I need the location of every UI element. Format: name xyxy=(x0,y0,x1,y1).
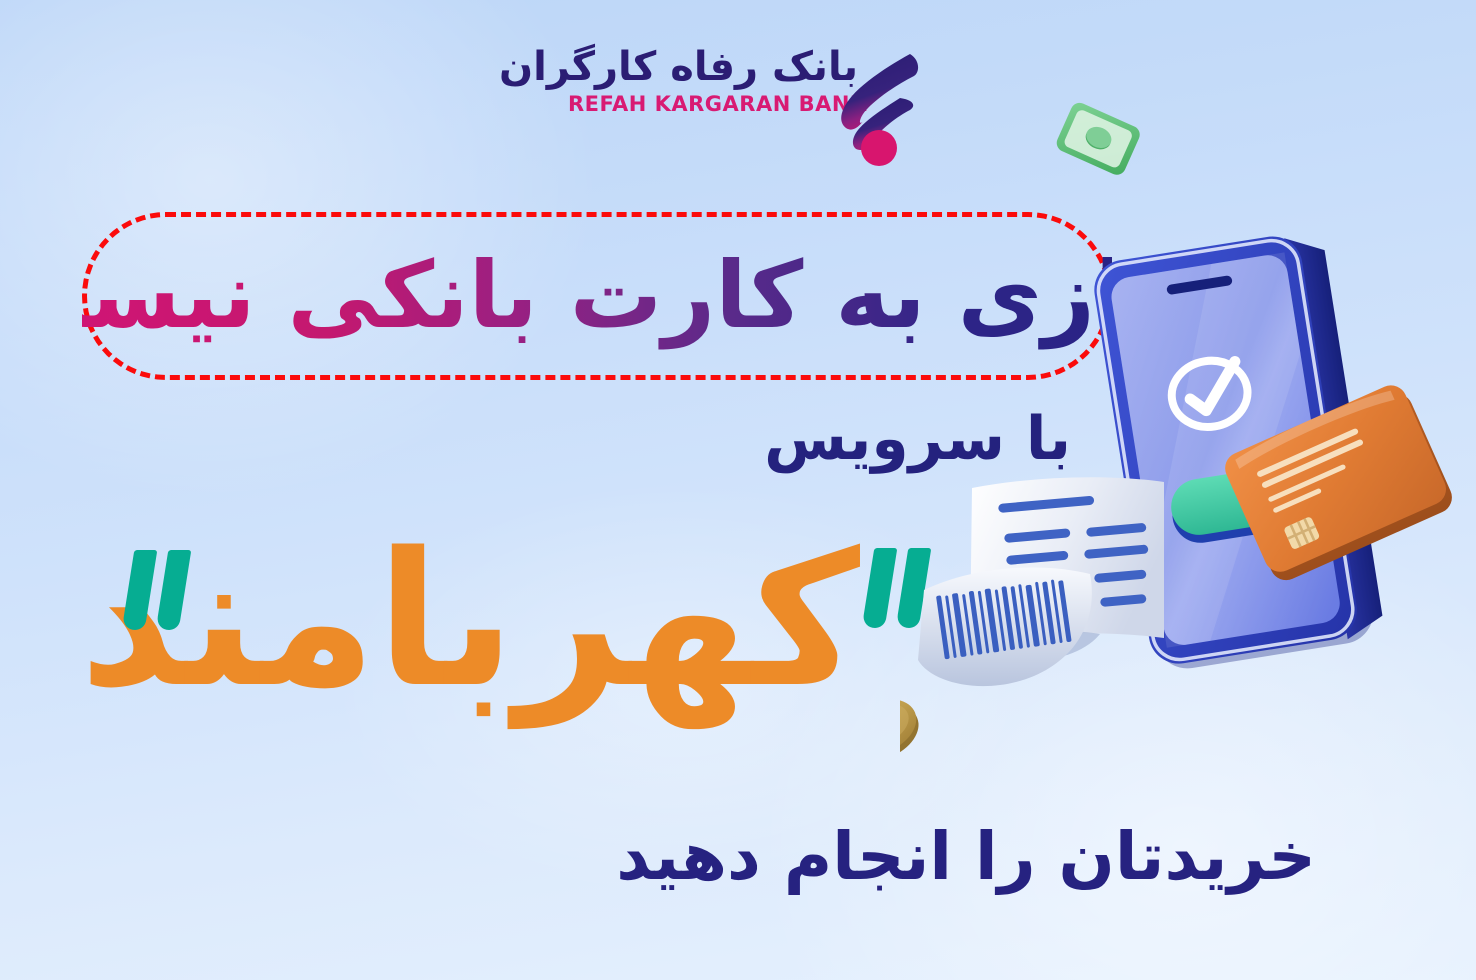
logo-name-en: REFAH KARGARAN BANK xyxy=(568,92,858,116)
poster-canvas: بانک رفاه کارگران REFAH KARGARAN BANK xyxy=(0,0,1476,980)
quote-close-icon xyxy=(128,550,194,630)
service-brand-name: کهربامند xyxy=(79,528,860,713)
receipt-art xyxy=(918,477,1164,686)
logo-name-fa: بانک رفاه کارگران xyxy=(568,46,858,88)
brand-word-row: کهربامند xyxy=(120,528,920,778)
logo-wordmark: بانک رفاه کارگران REFAH KARGARAN BANK xyxy=(568,46,858,116)
payment-illustration xyxy=(900,70,1476,770)
coin-lower-art xyxy=(900,688,927,770)
tagline: خریدتان را انجام دهید xyxy=(616,818,1316,895)
bank-logo[interactable]: بانک رفاه کارگران REFAH KARGARAN BANK xyxy=(560,46,940,156)
banknote-top-art xyxy=(1054,100,1143,178)
